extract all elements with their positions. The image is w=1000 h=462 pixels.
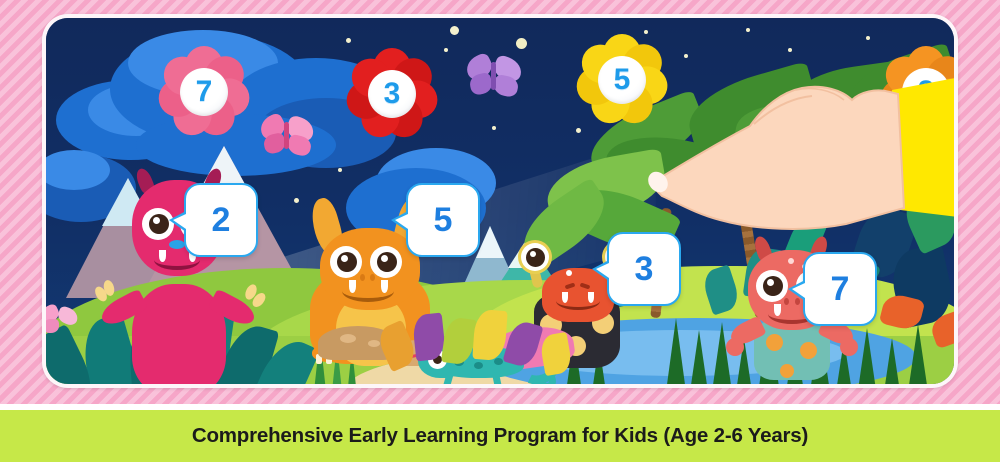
- butterfly-pink-icon: [258, 114, 316, 162]
- flower-5-core: 5: [598, 56, 646, 104]
- flower-3-token[interactable]: 3: [344, 46, 440, 142]
- bubble-5-number: 5: [434, 203, 453, 237]
- flower-5-number: 5: [614, 65, 631, 95]
- bubble-7[interactable]: 7: [803, 252, 877, 326]
- flower-7-number: 7: [196, 77, 213, 107]
- butterfly-pink-small-icon: [46, 304, 80, 338]
- hand-cursor-svg: [646, 48, 954, 248]
- bubble-2[interactable]: 2: [184, 183, 258, 257]
- bubble-7-tail: [788, 280, 805, 301]
- bubble-5-tail: [391, 211, 408, 232]
- scene-card-inner: ✕: [46, 18, 954, 384]
- bubble-2-number: 2: [212, 203, 231, 237]
- bubble-2-tail: [169, 211, 186, 232]
- flower-3-core: 3: [368, 70, 416, 118]
- hand-cursor[interactable]: [646, 48, 954, 248]
- app-root: ✕: [0, 0, 1000, 462]
- bubble-3-tail: [592, 260, 609, 281]
- banner-text: Comprehensive Early Learning Program for…: [192, 424, 808, 448]
- butterfly-purple-icon: [464, 54, 524, 102]
- bubble-7-number: 7: [831, 272, 850, 306]
- flower-7-core: 7: [180, 68, 228, 116]
- bubble-3-number: 3: [635, 252, 654, 286]
- flower-7-token[interactable]: 7: [156, 44, 252, 140]
- scene-card[interactable]: ✕: [42, 14, 958, 388]
- flower-3-number: 3: [384, 79, 401, 109]
- bottom-banner: Comprehensive Early Learning Program for…: [0, 410, 1000, 462]
- bubble-5[interactable]: 5: [406, 183, 480, 257]
